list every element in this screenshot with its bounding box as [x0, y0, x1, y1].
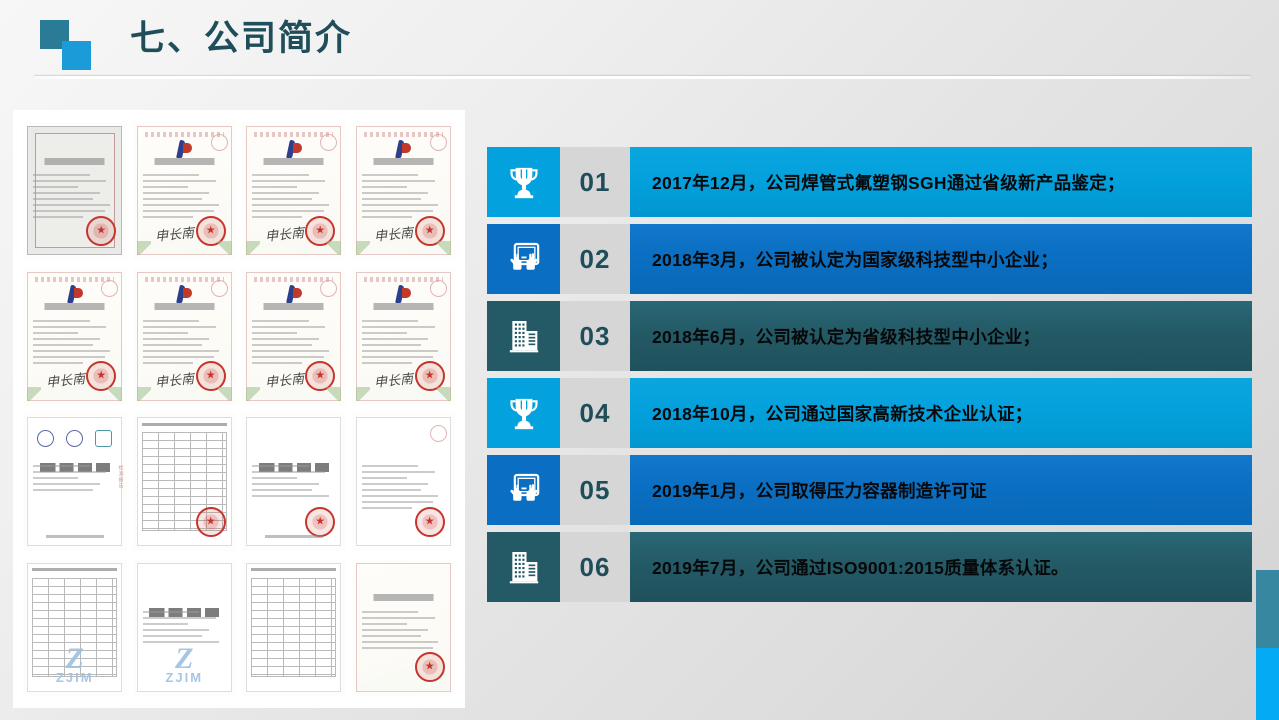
milestone-icon-cell: [487, 378, 560, 448]
milestone-text: 2019年7月，公司通过ISO9001:2015质量体系认证。: [630, 532, 1252, 602]
patent-emblem-icon: [174, 140, 194, 160]
milestone-number: 06: [560, 532, 630, 602]
accreditation-logos-icon: [37, 430, 112, 447]
certificate-signature: 申长南: [154, 368, 195, 391]
certificate-thumbnail[interactable]: 申长南: [133, 268, 237, 406]
certificate-title-line: [143, 158, 226, 165]
certificate-corner-ornament: [356, 241, 370, 255]
certificate-corner-ornament: [218, 387, 232, 401]
certificate-stamp-icon: [101, 280, 118, 297]
milestone-number: 04: [560, 378, 630, 448]
certificate-side-stamp: 检测报告: [117, 465, 124, 489]
certificate-stamp-icon: [211, 134, 228, 151]
trophy-icon: [504, 393, 544, 433]
report-footer-line: [265, 535, 323, 538]
milestone-row[interactable]: 06 2019年7月，公司通过ISO9001:2015质量体系认证。: [487, 532, 1252, 602]
certificate-seal-icon: [305, 507, 335, 537]
certificate-thumbnail[interactable]: Z ZJIM: [23, 559, 127, 697]
certificate-thumbnail[interactable]: [242, 413, 346, 551]
certificate-gallery-panel: 申长南 申长南: [13, 110, 465, 708]
certificate-thumbnail[interactable]: [352, 559, 456, 697]
milestone-icon-cell: [487, 532, 560, 602]
certificate-corner-ornament: [356, 387, 370, 401]
certificate-body-lines: [33, 465, 116, 523]
milestone-row[interactable]: 02 2018年3月，公司被认定为国家级科技型中小企业；: [487, 224, 1252, 294]
milestone-text: 2018年10月，公司通过国家高新技术企业认证；: [630, 378, 1252, 448]
certificate-stamp-icon: [211, 280, 228, 297]
certificate-corner-ornament: [218, 241, 232, 255]
certificate-scroll-ornament: [364, 277, 443, 282]
milestone-icon-cell: [487, 147, 560, 217]
milestone-row[interactable]: 05 2019年1月，公司取得压力容器制造许可证: [487, 455, 1252, 525]
certificate-thumbnail[interactable]: 申长南: [242, 268, 346, 406]
certificate-scroll-ornament: [145, 132, 224, 137]
certificate-title-line: [362, 594, 445, 601]
milestone-number: 02: [560, 224, 630, 294]
certificate-body-lines: [143, 611, 226, 669]
certificate-corner-ornament: [327, 241, 341, 255]
certificate-seal-icon: [415, 507, 445, 537]
certificate-thumbnail[interactable]: 检测报告: [23, 413, 127, 551]
certificate-thumbnail[interactable]: 申长南: [133, 122, 237, 260]
certificate-title-line: [362, 158, 445, 165]
certificate-title-line: [252, 158, 335, 165]
document-header-line: [142, 423, 227, 426]
milestone-number: 03: [560, 301, 630, 371]
certificate-thumbnail[interactable]: [23, 122, 127, 260]
certificate-signature: 申长南: [373, 368, 414, 391]
milestone-icon-cell: [487, 301, 560, 371]
milestone-list: 01 2017年12月，公司焊管式氟塑钢SGH通过省级新产品鉴定； 02 201…: [487, 147, 1252, 609]
milestone-number: 05: [560, 455, 630, 525]
milestone-number: 01: [560, 147, 630, 217]
milestone-row[interactable]: 01 2017年12月，公司焊管式氟塑钢SGH通过省级新产品鉴定；: [487, 147, 1252, 217]
certificate-title-line: [33, 158, 116, 165]
edge-decoration-teal: [1256, 570, 1279, 648]
certificate-signature: 申长南: [264, 368, 305, 391]
certificate-scroll-ornament: [35, 277, 114, 282]
report-footer-line: [46, 535, 104, 538]
document-table-grid: [251, 578, 336, 677]
certificate-corner-ornament: [437, 387, 451, 401]
slide-canvas: 七、公司简介: [0, 0, 1279, 720]
certificate-corner-ornament: [246, 387, 260, 401]
page-title: 七、公司简介: [130, 14, 352, 64]
certificate-title-line: [33, 303, 116, 310]
certificate-thumbnail[interactable]: [133, 413, 237, 551]
milestone-row[interactable]: 04 2018年10月，公司通过国家高新技术企业认证；: [487, 378, 1252, 448]
certificate-title-line: [362, 303, 445, 310]
certificate-stamp-icon: [430, 425, 447, 442]
document-header-line: [32, 568, 117, 571]
certificate-corner-ornament: [137, 241, 151, 255]
certificate-thumbnail[interactable]: 申长南: [23, 268, 127, 406]
certificate-thumbnail[interactable]: Z ZJIM: [133, 559, 237, 697]
edge-decoration-cyan: [1256, 648, 1279, 720]
certificate-thumbnail[interactable]: [352, 413, 456, 551]
milestone-text: 2019年1月，公司取得压力容器制造许可证: [630, 455, 1252, 525]
milestone-text: 2018年3月，公司被认定为国家级科技型中小企业；: [630, 224, 1252, 294]
certificate-corner-ornament: [137, 387, 151, 401]
certificate-corner-ornament: [327, 387, 341, 401]
header-divider: [34, 76, 1250, 79]
certificate-signature: 申长南: [45, 368, 86, 391]
certificate-title-line: [143, 303, 226, 310]
header-square-light-icon: [62, 41, 91, 70]
milestone-text: 2018年6月，公司被认定为省级科技型中小企业；: [630, 301, 1252, 371]
patent-emblem-icon: [393, 140, 413, 160]
milestone-row[interactable]: 03 2018年6月，公司被认定为省级科技型中小企业；: [487, 301, 1252, 371]
certificate-scroll-ornament: [364, 132, 443, 137]
certificate-stamp-icon: [430, 280, 447, 297]
certificate-scroll-ornament: [145, 277, 224, 282]
milestone-icon-cell: [487, 455, 560, 525]
certificate-seal-icon: [86, 216, 116, 246]
certificate-thumbnail[interactable]: 申长南: [242, 122, 346, 260]
document-header-line: [251, 568, 336, 571]
buildings-icon: [504, 316, 544, 356]
certificate-grid: 申长南 申长南: [13, 110, 465, 708]
certificate-stamp-icon: [430, 134, 447, 151]
certificate-thumbnail[interactable]: [242, 559, 346, 697]
certificate-corner-ornament: [246, 241, 260, 255]
certificate-scroll-ornament: [254, 277, 333, 282]
milestone-icon-cell: [487, 224, 560, 294]
certificate-seal-icon: [415, 652, 445, 682]
certificate-corner-ornament: [437, 241, 451, 255]
certificate-title-line: [252, 303, 335, 310]
certificate-signature: 申长南: [264, 222, 305, 245]
document-table-grid: [32, 578, 117, 677]
certificate-stamp-icon: [320, 280, 337, 297]
tablet-hands-icon: [504, 239, 544, 279]
milestone-text: 2017年12月，公司焊管式氟塑钢SGH通过省级新产品鉴定；: [630, 147, 1252, 217]
slide-header: 七、公司简介: [0, 0, 1279, 92]
buildings-icon: [504, 547, 544, 587]
tablet-hands-icon: [504, 470, 544, 510]
trophy-icon: [504, 162, 544, 202]
certificate-thumbnail[interactable]: 申长南: [352, 122, 456, 260]
certificate-seal-icon: [196, 507, 226, 537]
certificate-corner-ornament: [108, 387, 122, 401]
certificate-corner-ornament: [27, 387, 41, 401]
patent-emblem-icon: [284, 140, 304, 160]
certificate-thumbnail[interactable]: 申长南: [352, 268, 456, 406]
